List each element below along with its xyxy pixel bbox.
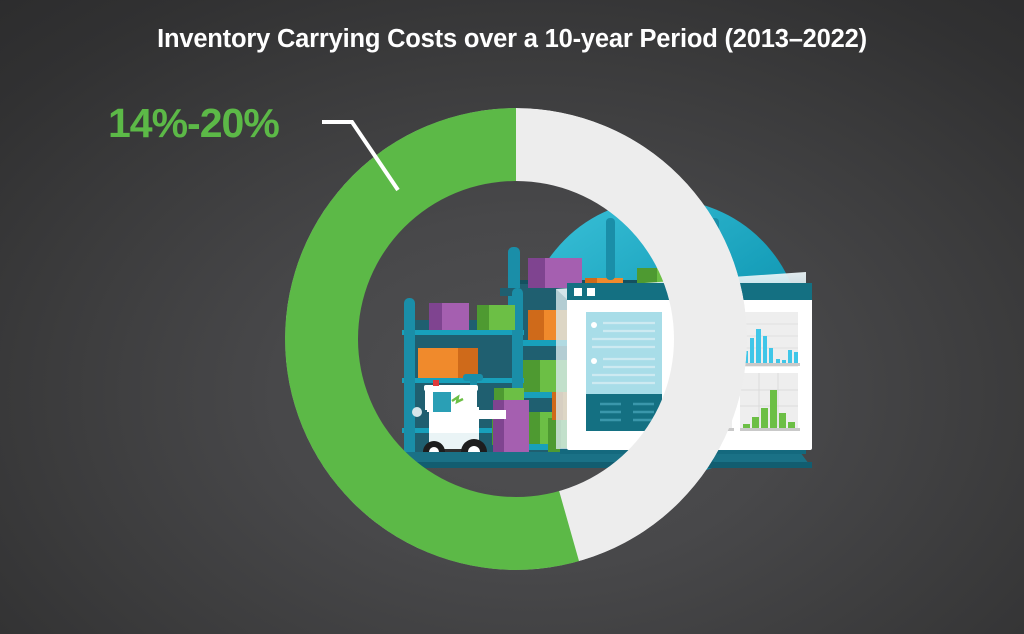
- callout-value-label: 14%-20%: [108, 100, 279, 147]
- infographic-canvas: Inventory Carrying Costs over a 10-year …: [0, 0, 1024, 634]
- callout-leader-line: [320, 108, 430, 203]
- leader-polyline: [322, 122, 398, 190]
- dashboard-bottom-right-chart: [740, 373, 800, 431]
